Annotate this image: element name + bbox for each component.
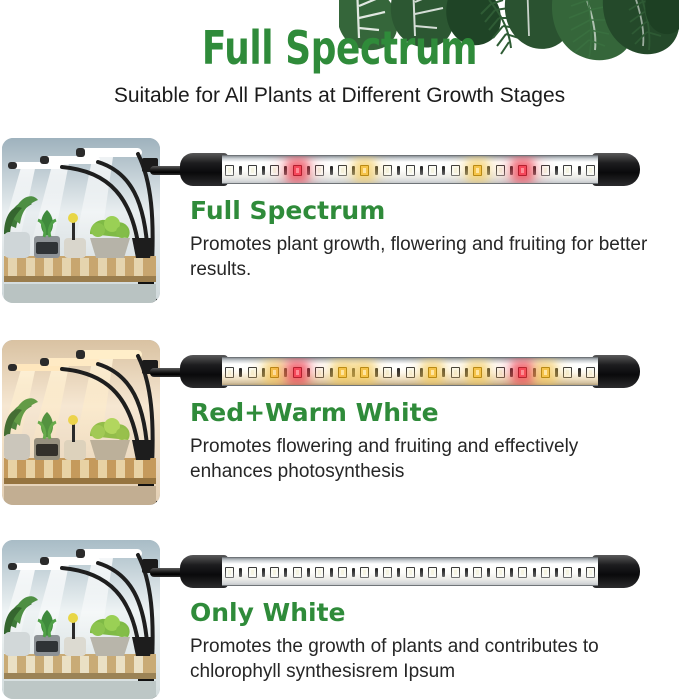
feature-title: Full Spectrum [190, 196, 660, 226]
bar-end-cap-right [592, 153, 640, 186]
led-white [315, 367, 324, 378]
feature-description: Promotes plant growth, flowering and fru… [190, 232, 660, 282]
led-separator [352, 368, 355, 377]
led-separator [442, 166, 445, 175]
led-separator [397, 166, 400, 175]
led-separator [465, 368, 468, 377]
led-separator [487, 568, 490, 577]
led-separator [442, 368, 445, 377]
led-white [270, 165, 279, 176]
led-separator [262, 368, 265, 377]
led-bar-only-white [150, 548, 640, 594]
feature-row-red-warm-white: Red+Warm White Promotes flowering and fr… [0, 340, 679, 505]
bar-end-cap-right [592, 555, 640, 588]
led-separator [510, 166, 513, 175]
led-separator [442, 568, 445, 577]
product-photo-full-spectrum [2, 138, 160, 303]
product-photo-red-warm-white [2, 340, 160, 505]
led-white [541, 165, 550, 176]
led-white [383, 567, 392, 578]
led-warm [473, 165, 482, 176]
led-separator [510, 568, 513, 577]
led-separator [420, 368, 423, 377]
led-separator [533, 166, 536, 175]
led-tube [222, 557, 598, 586]
led-separator [239, 568, 242, 577]
led-separator [555, 568, 558, 577]
led-separator [330, 568, 333, 577]
feature-title: Only White [190, 598, 660, 628]
led-white [383, 165, 392, 176]
feature-text-2: Red+Warm White Promotes flowering and fr… [190, 398, 660, 484]
led-white [248, 165, 257, 176]
led-separator [352, 568, 355, 577]
led-white [338, 567, 347, 578]
product-photo-only-white [2, 540, 160, 699]
led-red [293, 165, 302, 176]
led-separator [487, 166, 490, 175]
led-white [586, 567, 595, 578]
led-white [248, 367, 257, 378]
led-red [518, 367, 527, 378]
feature-text-3: Only White Promotes the growth of plants… [190, 598, 660, 684]
page-title: Full Spectrum [75, 22, 605, 74]
led-white [248, 567, 257, 578]
led-separator [239, 166, 242, 175]
feature-description: Promotes the growth of plants and contri… [190, 634, 660, 684]
led-white [406, 165, 415, 176]
led-separator [397, 368, 400, 377]
led-bar-full-spectrum [150, 146, 640, 192]
led-separator [284, 368, 287, 377]
led-separator [284, 166, 287, 175]
led-separator [555, 368, 558, 377]
led-separator [262, 166, 265, 175]
led-bar-red-warm-white [150, 348, 640, 394]
led-separator [487, 368, 490, 377]
led-separator [397, 568, 400, 577]
led-white [293, 567, 302, 578]
led-white [338, 165, 347, 176]
led-separator [375, 166, 378, 175]
led-separator [375, 568, 378, 577]
led-separator [555, 166, 558, 175]
led-separator [284, 568, 287, 577]
bar-end-cap-right [592, 355, 640, 388]
led-separator [307, 166, 310, 175]
led-white [406, 567, 415, 578]
feature-description: Promotes flowering and fruiting and effe… [190, 434, 660, 484]
feature-title: Red+Warm White [190, 398, 660, 428]
led-warm [270, 367, 279, 378]
led-white [315, 567, 324, 578]
led-separator [239, 368, 242, 377]
led-white [451, 567, 460, 578]
led-white [563, 367, 572, 378]
feature-row-only-white: Only White Promotes the growth of plants… [0, 540, 679, 699]
led-warm [360, 165, 369, 176]
led-white [225, 567, 234, 578]
led-warm [360, 367, 369, 378]
led-white [270, 567, 279, 578]
led-white [383, 367, 392, 378]
led-strip-2 [225, 365, 595, 380]
led-white [428, 165, 437, 176]
led-white [225, 165, 234, 176]
led-separator [533, 568, 536, 577]
led-separator [307, 368, 310, 377]
led-white [496, 165, 505, 176]
led-white [563, 567, 572, 578]
led-white [406, 367, 415, 378]
led-white [451, 165, 460, 176]
led-separator [578, 166, 581, 175]
led-tube [222, 357, 598, 386]
led-separator [465, 568, 468, 577]
led-separator [262, 568, 265, 577]
bar-end-cap-left [180, 153, 228, 186]
product-infographic: Full Spectrum Suitable for All Plants at… [0, 0, 679, 699]
led-separator [465, 166, 468, 175]
bar-end-cap-left [180, 355, 228, 388]
led-separator [307, 568, 310, 577]
led-white [541, 567, 550, 578]
led-white [225, 367, 234, 378]
led-white [496, 567, 505, 578]
page-subtitle: Suitable for All Plants at Different Gro… [0, 83, 679, 109]
led-separator [510, 368, 513, 377]
led-warm [473, 367, 482, 378]
feature-row-full-spectrum: Full Spectrum Promotes plant growth, flo… [0, 138, 679, 303]
led-separator [330, 368, 333, 377]
led-separator [420, 568, 423, 577]
led-white [451, 367, 460, 378]
led-warm [338, 367, 347, 378]
led-tube [222, 155, 598, 184]
led-white [360, 567, 369, 578]
led-separator [420, 166, 423, 175]
led-white [586, 165, 595, 176]
led-separator [352, 166, 355, 175]
led-strip-1 [225, 163, 595, 178]
led-white [518, 567, 527, 578]
bar-end-cap-left [180, 555, 228, 588]
led-red [518, 165, 527, 176]
led-separator [578, 368, 581, 377]
feature-text-1: Full Spectrum Promotes plant growth, flo… [190, 196, 660, 282]
led-strip-3 [225, 565, 595, 580]
led-separator [578, 568, 581, 577]
led-separator [533, 368, 536, 377]
header: Full Spectrum Suitable for All Plants at… [0, 0, 679, 120]
led-white [428, 567, 437, 578]
led-white [586, 367, 595, 378]
led-separator [330, 166, 333, 175]
led-warm [541, 367, 550, 378]
led-separator [375, 368, 378, 377]
led-white [315, 165, 324, 176]
led-white [496, 367, 505, 378]
led-red [293, 367, 302, 378]
led-warm [428, 367, 437, 378]
led-white [563, 165, 572, 176]
led-white [473, 567, 482, 578]
